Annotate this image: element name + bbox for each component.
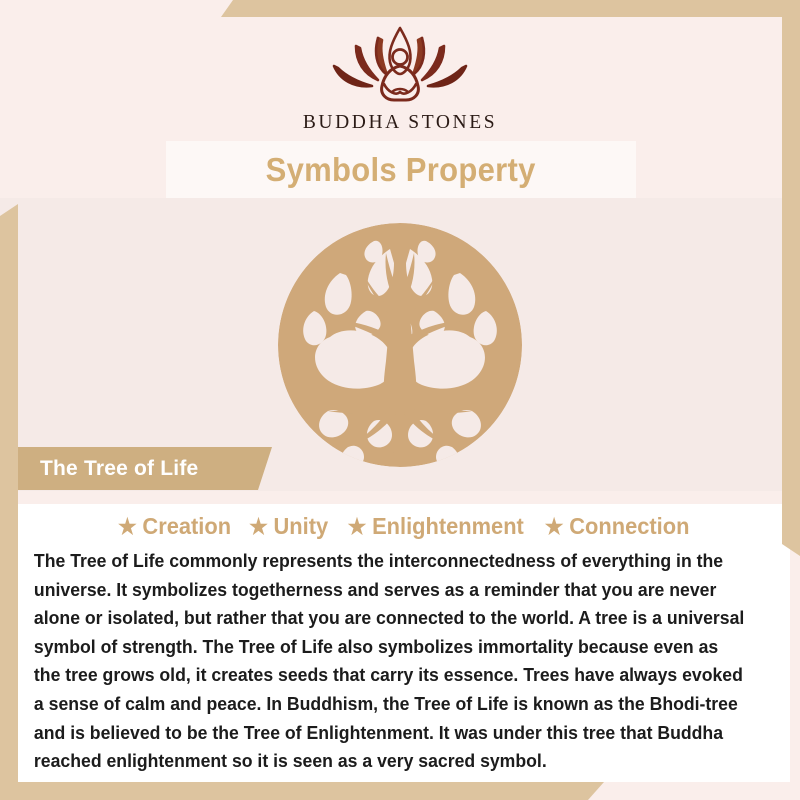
star-icon: ★ <box>249 516 268 538</box>
tree-of-life-icon <box>270 215 530 475</box>
keyword-item: ★ Connection <box>545 513 690 540</box>
description-text: The Tree of Life commonly represents the… <box>32 547 750 776</box>
keyword-label: Connection <box>570 513 690 540</box>
page-title: Symbols Property <box>266 151 536 189</box>
brand-name: BUDDHA STONES <box>303 112 497 134</box>
frame-bottom-accent <box>0 782 604 800</box>
frame-left-accent <box>0 204 18 800</box>
star-icon: ★ <box>347 516 366 538</box>
keyword-label: Unity <box>273 513 328 540</box>
star-icon: ★ <box>545 516 564 538</box>
keyword-list: ★ Creation ★ Unity ★ Enlightenment ★ Con… <box>32 513 776 540</box>
keyword-label: Creation <box>142 513 231 540</box>
section-label-banner: The Tree of Life <box>18 447 272 490</box>
keyword-item: ★ Enlightenment <box>347 513 523 540</box>
star-icon: ★ <box>117 516 136 538</box>
keyword-item: ★ Unity <box>249 513 328 540</box>
frame-right-accent <box>782 0 800 556</box>
header-background: BUDDHA STONES <box>0 0 800 141</box>
lotus-meditation-icon <box>316 22 484 106</box>
content-panel: ★ Creation ★ Unity ★ Enlightenment ★ Con… <box>18 504 790 782</box>
brand-logo: BUDDHA STONES <box>0 22 800 134</box>
symbols-property-infographic: { "brand": { "logo_icon": "lotus-meditat… <box>0 0 800 800</box>
keyword-label: Enlightenment <box>372 513 524 540</box>
keyword-item: ★ Creation <box>117 513 230 540</box>
section-label: The Tree of Life <box>18 457 198 481</box>
page-title-banner: Symbols Property <box>166 141 636 198</box>
